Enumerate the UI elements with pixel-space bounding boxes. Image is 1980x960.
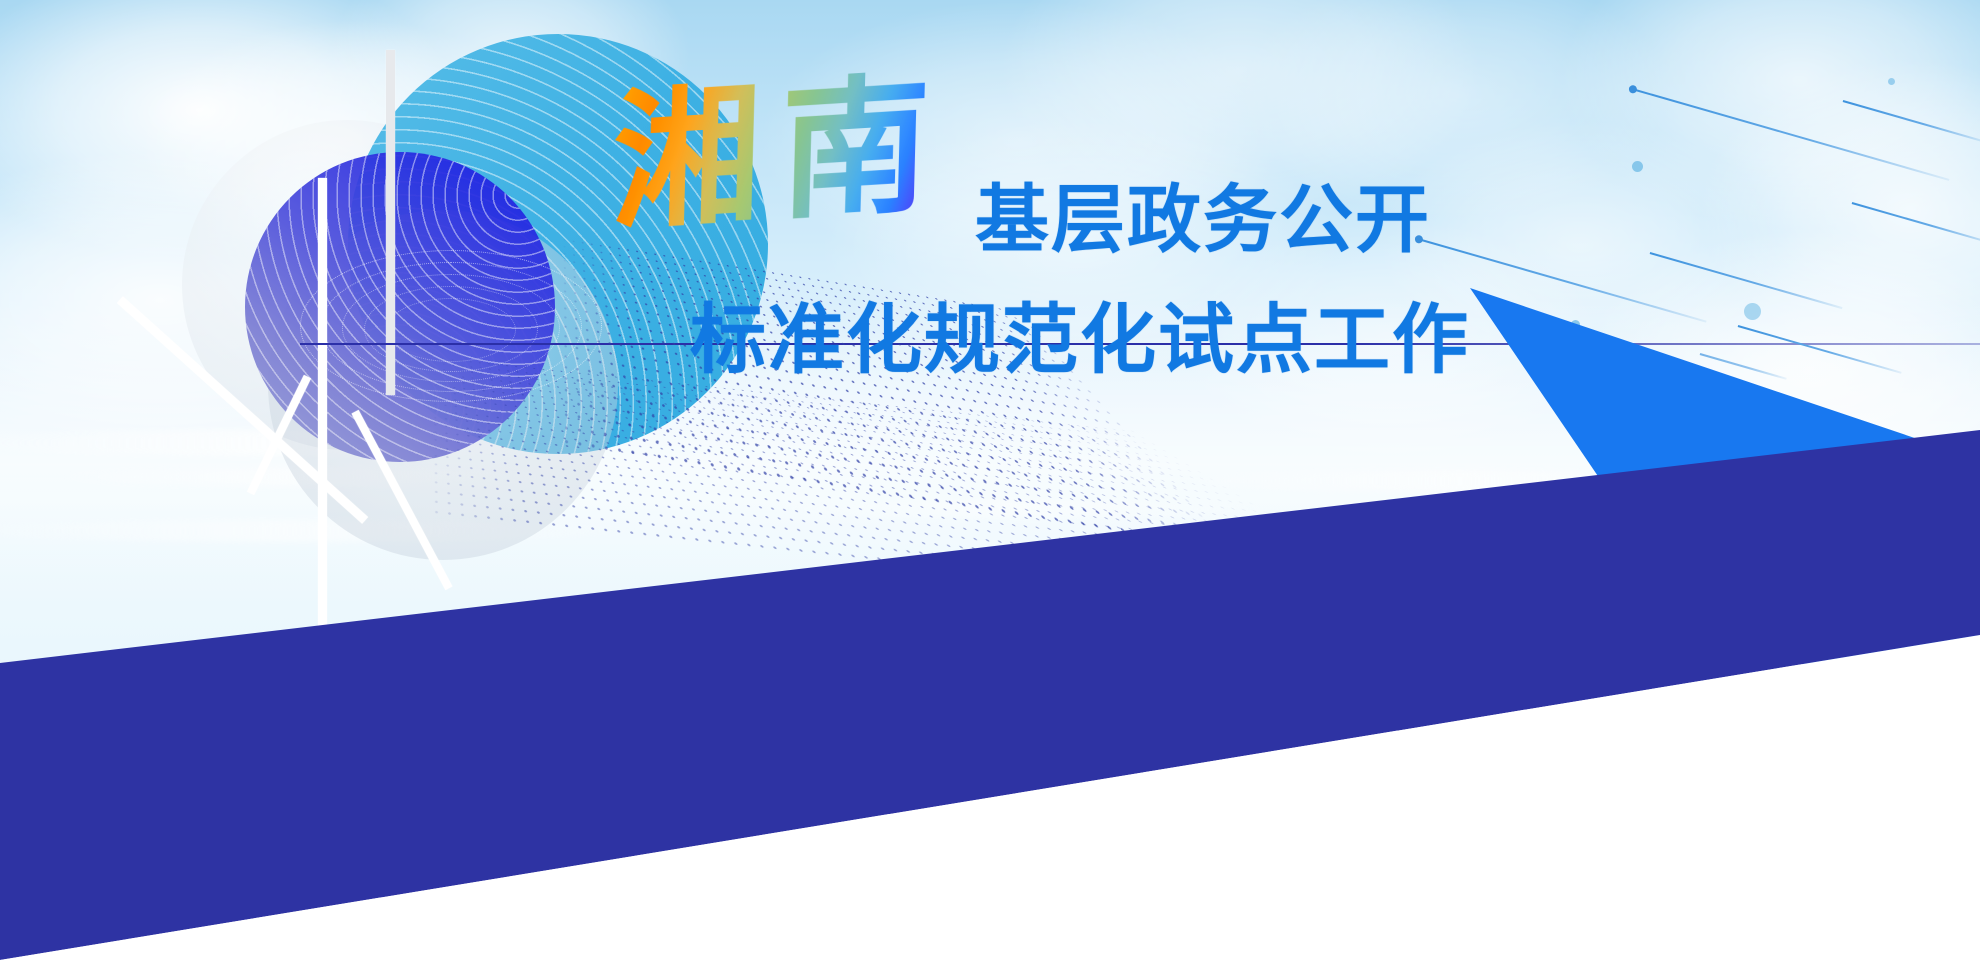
geometric-shapes-layer bbox=[0, 0, 1980, 960]
banner-canvas: 湘南 基层政务公开 标准化规范化试点工作 bbox=[0, 0, 1980, 960]
